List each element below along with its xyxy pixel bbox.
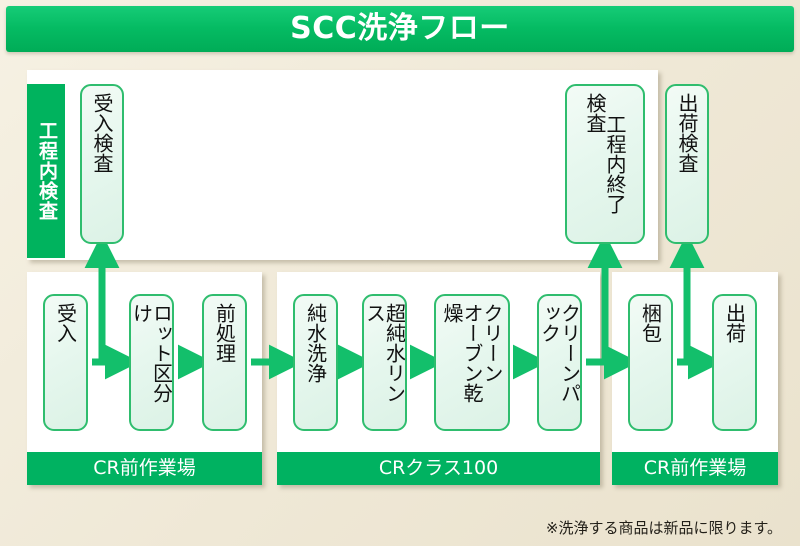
box-ultrapure-water-rinse[interactable]: 超純水リンス bbox=[362, 294, 407, 431]
box-shipping[interactable]: 出荷 bbox=[712, 294, 757, 431]
box-receiving[interactable]: 受入 bbox=[43, 294, 88, 431]
flow-diagram-canvas: SCC洗浄フロー 工程内検査 CR前作業場 CRクラス100 CR前作業場 bbox=[0, 0, 800, 546]
stage-3-footer: CR前作業場 bbox=[612, 452, 778, 485]
inspection-panel-label-text: 工程内検査 bbox=[36, 121, 56, 221]
box-pure-water-cleaning[interactable]: 純水洗浄 bbox=[293, 294, 338, 431]
stage-1-footer-text: CR前作業場 bbox=[93, 459, 195, 478]
box-incoming-inspection[interactable]: 受入検査 bbox=[80, 84, 124, 244]
footnote: ※洗浄する商品は新品に限ります。 bbox=[546, 517, 782, 538]
box-packing[interactable]: 梱包 bbox=[628, 294, 673, 431]
box-clean-pack-text-0: クリーンパック bbox=[540, 296, 580, 429]
box-ultrapure-water-rinse-text-0: 超純水リンス bbox=[365, 296, 405, 429]
box-clean-oven-drying-text-0: クリーン bbox=[482, 296, 502, 429]
box-shipping-inspection[interactable]: 出荷検査 bbox=[665, 84, 709, 244]
box-lot-sorting[interactable]: ロット区分け bbox=[129, 294, 174, 431]
stage-3-footer-text: CR前作業場 bbox=[644, 459, 746, 478]
stage-2-footer-text: CRクラス100 bbox=[379, 459, 498, 478]
box-shipping-text-0: 出荷 bbox=[725, 296, 745, 429]
box-receiving-text-0: 受入 bbox=[56, 296, 76, 429]
box-shipping-inspection-text-0: 出荷検査 bbox=[677, 86, 697, 242]
box-pre-treatment-text-0: 前処理 bbox=[215, 296, 235, 429]
stage-1-footer: CR前作業場 bbox=[27, 452, 262, 485]
stage-2-footer: CRクラス100 bbox=[277, 452, 600, 485]
box-clean-oven-drying-text-1: オーブン乾燥 bbox=[442, 296, 482, 429]
box-pure-water-cleaning-text-0: 純水洗浄 bbox=[306, 296, 326, 429]
inspection-panel-label: 工程内検査 bbox=[27, 84, 65, 258]
box-in-process-final-inspection-text-1: 検査 bbox=[585, 86, 605, 242]
box-lot-sorting-text-0: ロット区分け bbox=[132, 296, 172, 429]
box-in-process-final-inspection[interactable]: 工程内終了 検査 bbox=[565, 84, 645, 244]
title-banner: SCC洗浄フロー bbox=[6, 6, 794, 52]
box-in-process-final-inspection-text-0: 工程内終了 bbox=[605, 86, 625, 242]
box-pre-treatment[interactable]: 前処理 bbox=[202, 294, 247, 431]
page-title: SCC洗浄フロー bbox=[290, 14, 510, 44]
box-packing-text-0: 梱包 bbox=[641, 296, 661, 429]
box-incoming-inspection-text-0: 受入検査 bbox=[92, 86, 112, 242]
box-clean-pack[interactable]: クリーンパック bbox=[537, 294, 582, 431]
box-clean-oven-drying[interactable]: クリーン オーブン乾燥 bbox=[434, 294, 510, 431]
